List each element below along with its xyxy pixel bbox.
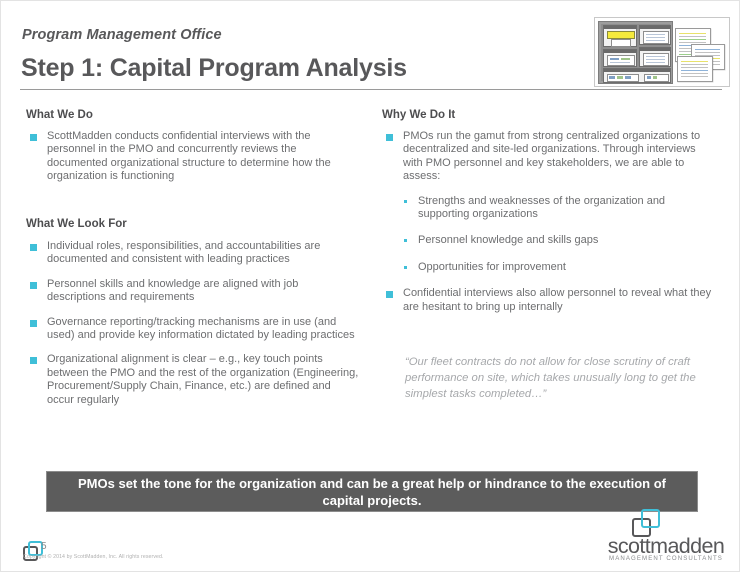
thumb-box-4: [639, 47, 671, 67]
thumb-box-1-header: [604, 26, 636, 29]
thumb-subbox-3: [643, 31, 669, 44]
thumbnail-diagram-panel: [598, 21, 673, 84]
thumb-box-3-header: [640, 26, 670, 29]
thumb-box-4-header: [640, 48, 670, 51]
thumb-subbox-4: [643, 53, 669, 66]
thumb-box-2: [603, 49, 637, 67]
thumb-box-5-header: [604, 69, 670, 72]
thumb-subbox-5b: [644, 74, 669, 82]
process-diagram-thumbnail: Step 1: Deliverable: Final Report Docume…: [594, 17, 730, 87]
page-title: Step 1: Capital Program Analysis: [21, 54, 407, 83]
thumb-subbox-5a: [607, 74, 639, 82]
slide-eyebrow: Program Management Office: [22, 27, 222, 43]
logo-tagline: MANAGEMENT CONSULTANTS: [601, 555, 731, 562]
logo-squares-icon: [632, 509, 662, 535]
thumb-subbox-1: [611, 39, 631, 47]
thumb-box-3: [639, 25, 671, 45]
section-heading-what-we-do: What We Do: [26, 109, 93, 121]
list-item: ScottMadden conducts confidential interv…: [26, 130, 356, 184]
title-divider: [20, 89, 722, 90]
thumb-doc-3: [677, 56, 713, 82]
section-heading-what-we-look-for: What We Look For: [26, 218, 127, 230]
thumbnail-documents-panel: Step 1: Deliverable: Final Report Docume…: [675, 22, 725, 82]
thumb-highlight: [607, 31, 635, 39]
section-heading-why-we-do-it: Why We Do It: [382, 109, 455, 121]
what-we-look-for-bullet-list: Individual roles, responsibilities, and …: [26, 240, 359, 407]
scottmadden-logo: scottmadden MANAGEMENT CONSULTANTS: [601, 509, 731, 565]
slide: Program Management Office Step 1: Capita…: [0, 0, 740, 572]
what-we-do-bullet-list: ScottMadden conducts confidential interv…: [26, 130, 356, 184]
list-item: Personnel skills and knowledge are align…: [26, 278, 359, 305]
list-item: Governance reporting/tracking mechanisms…: [26, 316, 359, 343]
copyright-notice: Copyright © 2014 by ScottMadden, Inc. Al…: [23, 554, 164, 560]
list-item: Organizational alignment is clear – e.g.…: [26, 353, 359, 407]
sub-list-item: Strengths and weaknesses of the organiza…: [382, 195, 712, 222]
thumb-box-2-header: [604, 50, 636, 53]
list-item: Confidential interviews also allow perso…: [382, 287, 712, 314]
sub-list-item: Opportunities for improvement: [382, 261, 712, 274]
list-item: PMOs run the gamut from strong centraliz…: [382, 130, 712, 184]
list-item: Individual roles, responsibilities, and …: [26, 240, 359, 267]
pull-quote: “Our fleet contracts do not allow for cl…: [405, 354, 721, 402]
thumb-box-5: [603, 68, 671, 83]
why-we-do-it-bullet-list: PMOs run the gamut from strong centraliz…: [382, 130, 712, 314]
page-number: 5: [41, 541, 47, 552]
why-we-do-it-sub-list: Strengths and weaknesses of the organiza…: [382, 195, 712, 275]
sub-list-item: Personnel knowledge and skills gaps: [382, 234, 712, 247]
key-takeaway-banner: PMOs set the tone for the organization a…: [46, 471, 698, 512]
thumb-subbox-2: [607, 55, 635, 66]
thumb-box-1: [603, 25, 637, 47]
